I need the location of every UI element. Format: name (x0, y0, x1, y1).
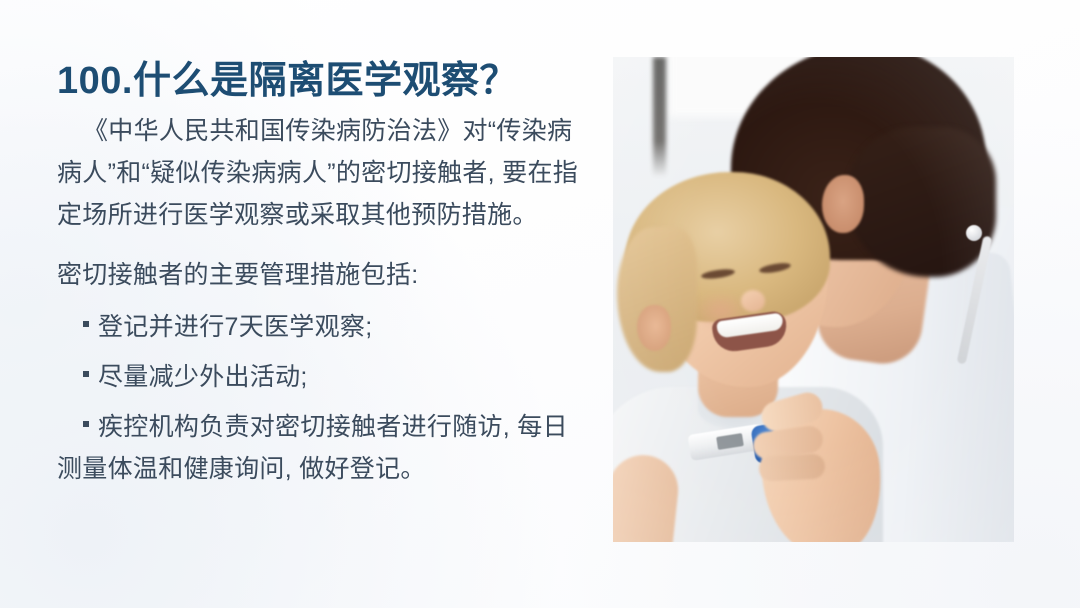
child-ear (637, 305, 671, 351)
list-item: 尽量减少外出活动; (57, 356, 592, 398)
list-item: 登记并进行7天医学观察; (57, 306, 592, 348)
photo-canvas (613, 57, 1014, 542)
text-column: 《中华人民共和国传染病防治法》对“传染病病人”和“疑似传染病病人”的密切接触者,… (57, 110, 592, 498)
bullet-marker-icon (83, 371, 89, 377)
doctor-ear (822, 175, 864, 233)
illustration-photo (613, 57, 1014, 542)
list-item-label: 尽量减少外出活动; (98, 363, 308, 391)
doctor-finger-ring (758, 453, 825, 481)
bullet-marker-icon (83, 321, 89, 327)
slide-root: 100.什么是隔离医学观察？ 《中华人民共和国传染病防治法》对“传染病病人”和“… (0, 0, 1080, 608)
bullet-marker-icon (83, 421, 89, 427)
list-item: 疾控机构负责对密切接触者进行随访, 每日测量体温和健康询问, 做好登记。 (57, 406, 592, 490)
list-item-label: 登记并进行7天医学观察; (98, 313, 372, 341)
measures-bullet-list: 登记并进行7天医学观察; 尽量减少外出活动; 疾控机构负责对密切接触者进行随访,… (57, 306, 592, 490)
paragraph-measures-intro: 密切接触者的主要管理措施包括: (57, 254, 592, 296)
list-item-label: 疾控机构负责对密切接触者进行随访, 每日测量体温和健康询问, 做好登记。 (57, 413, 568, 483)
page-title: 100.什么是隔离医学观察？ (57, 61, 518, 103)
child-nose (741, 290, 765, 312)
background-equipment-bar (653, 57, 666, 177)
stethoscope-earpiece (966, 225, 982, 241)
paragraph-law: 《中华人民共和国传染病防治法》对“传染病病人”和“疑似传染病病人”的密切接触者,… (57, 110, 592, 236)
